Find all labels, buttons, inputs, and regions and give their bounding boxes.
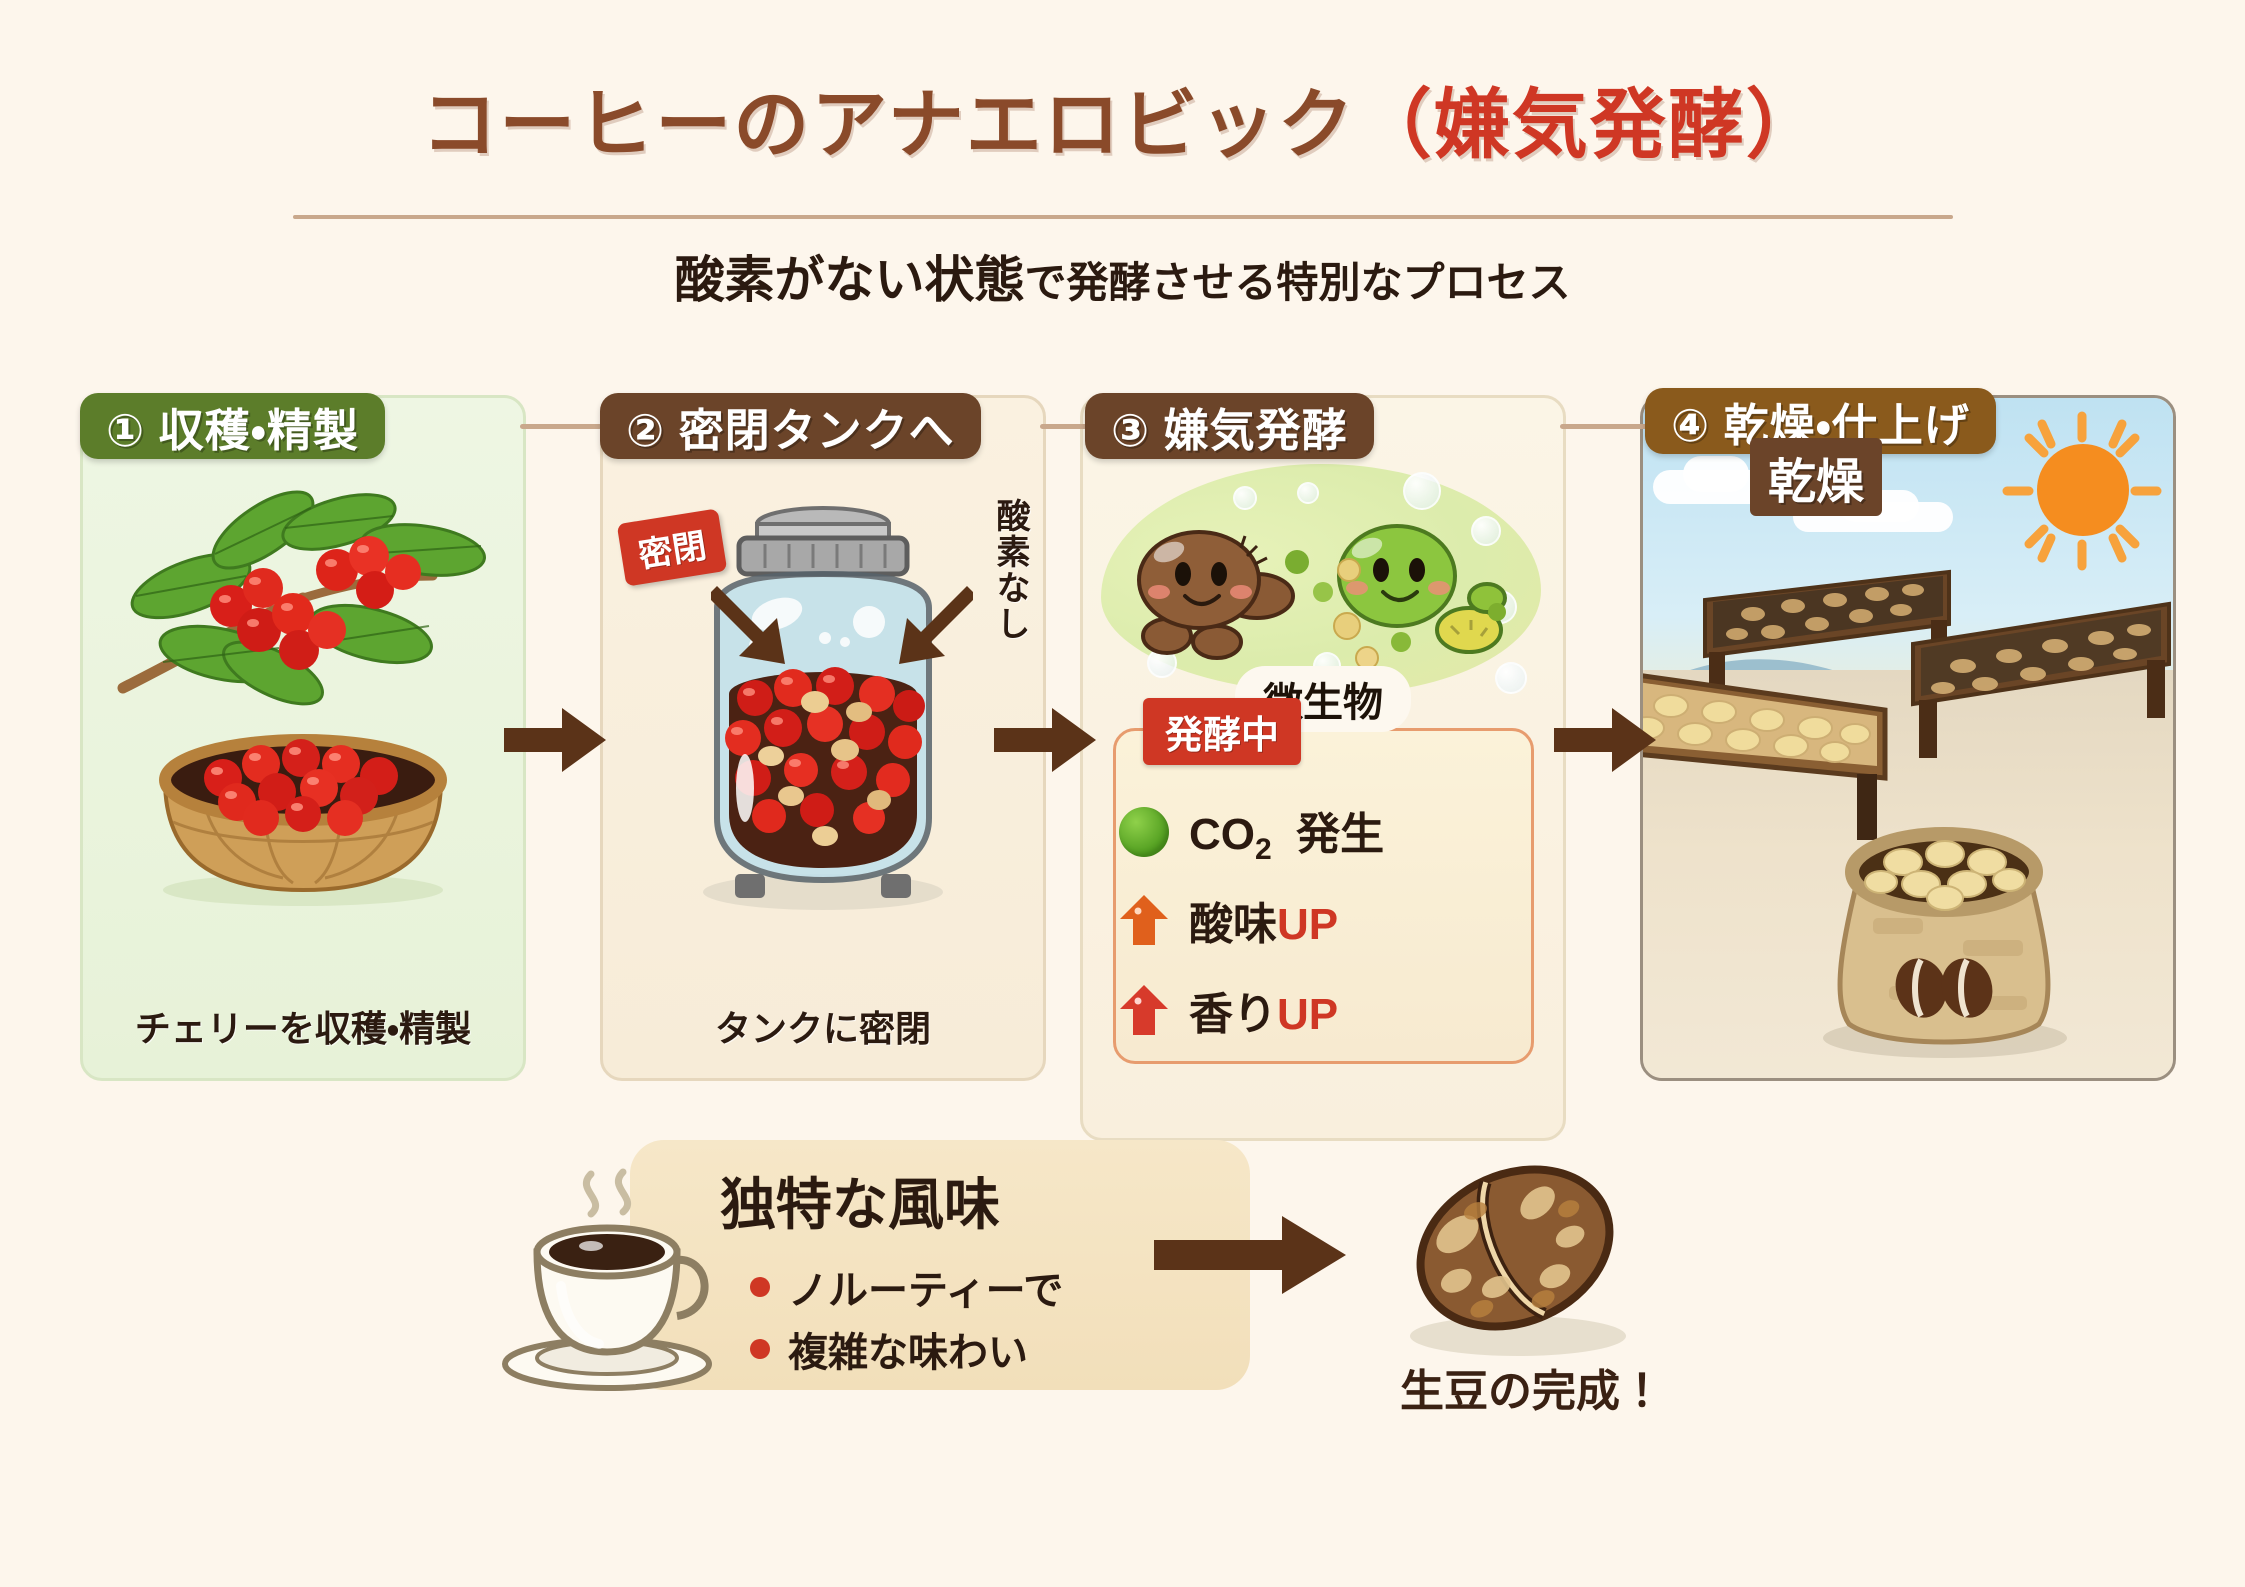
step-header-3: ③ 嫌気発酵 — [1085, 393, 1374, 459]
step-header-1: ① 収穫・精製 — [80, 393, 385, 459]
no-oxygen-label: 酸素なし — [986, 498, 1035, 642]
no-oxygen-pointer-arrow — [873, 580, 973, 676]
connector-1-2 — [520, 424, 602, 429]
step-panel-harvest: チェリーを収穫・精製 — [80, 395, 526, 1081]
page-subtitle: 酸素がない状態で発酵させる特別なプロセス — [0, 240, 2245, 312]
panel2-caption: タンクに密閉 — [603, 1000, 1043, 1052]
effect-aroma-text: 香りUP — [1189, 978, 1338, 1042]
effect-row-aroma: 香りUP — [1119, 978, 1338, 1042]
cherry-basket-illustration — [143, 718, 463, 908]
flavour-bullet-2-text: 複雑な味わい — [788, 1320, 1028, 1378]
bullet-dot-icon — [750, 1277, 770, 1297]
flow-arrow-3-4 — [1550, 700, 1660, 780]
effect-acidity-text: 酸味UP — [1189, 888, 1338, 952]
cloud-icon — [1683, 456, 1749, 492]
step-header-2: ② 密閉タンクへ — [600, 393, 981, 459]
effect-co2-text: CO2 発生 — [1189, 798, 1384, 867]
seal-pointer-arrow — [711, 580, 811, 676]
step-panel-anaerobic-fermentation: 微生物 発酵中 CO2 発生 酸味UP 香りUP — [1080, 395, 1566, 1141]
page-title: コーヒーのアナエロビック（嫌気発酵） — [0, 88, 2245, 164]
effect-row-co2: CO2 発生 — [1119, 798, 1384, 867]
spore-dots — [1101, 464, 1541, 694]
green-bean-sack-illustration — [1803, 798, 2083, 1058]
final-label: 生豆の完成！ — [1400, 1355, 1650, 1419]
co2-circle-icon — [1119, 807, 1169, 857]
title-main: コーヒーのアナエロビック — [421, 83, 1355, 168]
effect-row-acidity: 酸味UP — [1119, 888, 1338, 952]
flavour-title: 独特な風味 — [720, 1160, 1000, 1241]
flavour-bullet-2: 複雑な味わい — [750, 1320, 1028, 1378]
flavour-bullet-1: ノルーティーで — [750, 1258, 1063, 1316]
coffee-cup-illustration — [495, 1160, 725, 1400]
step-panel-drying — [1640, 395, 2176, 1081]
flavour-bullet-1-text: ノルーティーで — [788, 1258, 1063, 1316]
title-divider — [293, 215, 1953, 219]
roasted-bean-illustration — [1390, 1150, 1640, 1360]
flow-arrow-1-2 — [500, 700, 610, 780]
coffee-branch-illustration — [103, 458, 503, 718]
fermenting-badge: 発酵中 — [1143, 698, 1301, 765]
title-parenthetical: （嫌気発酵） — [1356, 83, 1824, 168]
flow-arrow-flavour-to-bean — [1150, 1210, 1350, 1300]
infographic-canvas: コーヒーのアナエロビック（嫌気発酵） 酸素がない状態で発酵させる特別なプロセス — [0, 0, 2245, 1587]
panel1-caption: チェリーを収穫・精製 — [83, 1000, 523, 1052]
arrow-up-red-icon — [1119, 983, 1169, 1037]
bullet-dot-icon — [750, 1339, 770, 1359]
flow-arrow-2-3 — [990, 700, 1100, 780]
arrow-up-orange-icon — [1119, 893, 1169, 947]
subtitle-lead: 酸素がない状態 — [674, 252, 1024, 308]
step-panel-sealed-tank: 密閉 酸素なし タンクに密閉 — [600, 395, 1046, 1081]
connector-3-4 — [1560, 424, 1648, 429]
subtitle-rest: で発酵させる特別なプロセス — [1024, 259, 1570, 306]
drying-overlay-label: 乾燥 — [1750, 438, 1882, 516]
connector-2-3 — [1040, 424, 1088, 429]
